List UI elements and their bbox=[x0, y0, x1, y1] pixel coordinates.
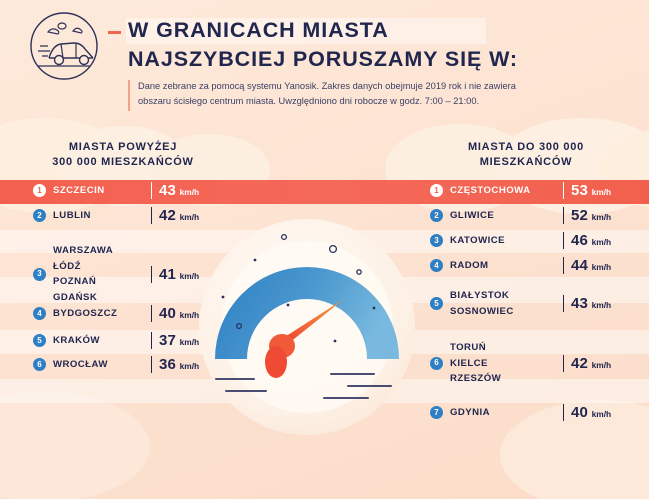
city-name: CZĘSTOCHOWA bbox=[450, 183, 563, 199]
speed-unit: km/h bbox=[180, 187, 200, 197]
city-names: CZĘSTOCHOWA bbox=[450, 183, 563, 199]
city-name: GDAŃSK bbox=[53, 290, 151, 306]
column-heading-left-line-2: 300 000 MIESZKAŃCÓW bbox=[8, 155, 238, 170]
table-row: 2LUBLIN42km/h bbox=[33, 207, 213, 224]
speed-value: 41km/h bbox=[151, 266, 213, 283]
speed-number: 41 bbox=[159, 266, 176, 283]
subtitle-line-1: Dane zebrane za pomocą systemu Yanosik. … bbox=[138, 79, 568, 94]
speed-number: 43 bbox=[571, 295, 588, 312]
speed-value: 37km/h bbox=[151, 332, 213, 349]
city-name: POZNAŃ bbox=[53, 274, 151, 290]
speed-unit: km/h bbox=[180, 361, 200, 371]
speed-number: 46 bbox=[571, 232, 588, 249]
city-name: TORUŃ bbox=[450, 340, 563, 356]
city-name: SOSNOWIEC bbox=[450, 304, 563, 320]
city-name: BYDGOSZCZ bbox=[53, 306, 151, 322]
speed-value: 36km/h bbox=[151, 356, 213, 373]
speed-unit: km/h bbox=[592, 360, 612, 370]
speed-unit: km/h bbox=[180, 212, 200, 222]
column-heading-right-line-2: MIESZKAŃCÓW bbox=[411, 155, 641, 170]
city-names: KATOWICE bbox=[450, 233, 563, 249]
speed-unit: km/h bbox=[592, 300, 612, 310]
speed-value: 52km/h bbox=[563, 207, 625, 224]
table-row: 7GDYNIA40km/h bbox=[430, 404, 625, 421]
column-heading-left-line-1: MIASTA POWYŻEJ bbox=[8, 140, 238, 155]
city-name: RADOM bbox=[450, 258, 563, 274]
rank-badge: 7 bbox=[430, 406, 443, 419]
city-names: KRAKÓW bbox=[53, 333, 151, 349]
city-names: SZCZECIN bbox=[53, 183, 151, 199]
table-row: 5BIAŁYSTOKSOSNOWIEC43km/h bbox=[430, 288, 625, 319]
city-name: GDYNIA bbox=[450, 405, 563, 421]
page-title: W GRANICACH MIASTA NAJSZYBCIEJ PORUSZAMY… bbox=[128, 16, 628, 74]
city-names: WARSZAWAŁÓDŹPOZNAŃGDAŃSK bbox=[53, 243, 151, 305]
rank-badge: 5 bbox=[430, 297, 443, 310]
rank-badge: 4 bbox=[33, 307, 46, 320]
city-name: LUBLIN bbox=[53, 208, 151, 224]
city-name: KIELCE bbox=[450, 356, 563, 372]
rank-badge: 2 bbox=[430, 209, 443, 222]
city-names: LUBLIN bbox=[53, 208, 151, 224]
rank-badge: 6 bbox=[33, 358, 46, 371]
speed-value: 53km/h bbox=[563, 182, 625, 199]
table-row: 3KATOWICE46km/h bbox=[430, 232, 625, 249]
city-names: GDYNIA bbox=[450, 405, 563, 421]
speed-number: 40 bbox=[159, 305, 176, 322]
table-row: 1CZĘSTOCHOWA53km/h bbox=[430, 182, 625, 199]
city-name: WROCŁAW bbox=[53, 357, 151, 373]
rank-badge: 3 bbox=[430, 234, 443, 247]
subtitle: Dane zebrane za pomocą systemu Yanosik. … bbox=[138, 79, 568, 108]
city-name: BIAŁYSTOK bbox=[450, 288, 563, 304]
speed-unit: km/h bbox=[592, 262, 612, 272]
rank-badge: 1 bbox=[430, 184, 443, 197]
city-name: KRAKÓW bbox=[53, 333, 151, 349]
infographic-root: W GRANICACH MIASTA NAJSZYBCIEJ PORUSZAMY… bbox=[0, 0, 649, 499]
city-name: RZESZÓW bbox=[450, 371, 563, 387]
speed-value: 46km/h bbox=[563, 232, 625, 249]
city-names: TORUŃKIELCERZESZÓW bbox=[450, 340, 563, 387]
city-names: RADOM bbox=[450, 258, 563, 274]
speed-value: 43km/h bbox=[563, 295, 625, 312]
column-heading-left: MIASTA POWYŻEJ 300 000 MIESZKAŃCÓW bbox=[8, 140, 238, 170]
speed-unit: km/h bbox=[180, 337, 200, 347]
speed-unit: km/h bbox=[180, 271, 200, 281]
city-names: BYDGOSZCZ bbox=[53, 306, 151, 322]
speed-value: 42km/h bbox=[563, 355, 625, 372]
speed-number: 37 bbox=[159, 332, 176, 349]
table-row: 6TORUŃKIELCERZESZÓW42km/h bbox=[430, 340, 625, 387]
speed-value: 42km/h bbox=[151, 207, 213, 224]
speed-unit: km/h bbox=[592, 237, 612, 247]
subtitle-line-2: obszaru ścisłego centrum miasta. Uwzględ… bbox=[138, 94, 568, 109]
table-row: 6WROCŁAW36km/h bbox=[33, 356, 213, 373]
city-name: WARSZAWA bbox=[53, 243, 151, 259]
city-names: WROCŁAW bbox=[53, 357, 151, 373]
speed-unit: km/h bbox=[592, 187, 612, 197]
speed-number: 53 bbox=[571, 182, 588, 199]
header: W GRANICACH MIASTA NAJSZYBCIEJ PORUSZAMY… bbox=[0, 0, 649, 120]
table-row: 4BYDGOSZCZ40km/h bbox=[33, 305, 213, 322]
footer: yanosik.pl oponeo bbox=[0, 444, 649, 499]
speed-number: 52 bbox=[571, 207, 588, 224]
table-row: 5KRAKÓW37km/h bbox=[33, 332, 213, 349]
city-name: KATOWICE bbox=[450, 233, 563, 249]
speed-number: 44 bbox=[571, 257, 588, 274]
subtitle-accent-bar bbox=[128, 80, 130, 111]
rank-badge: 1 bbox=[33, 184, 46, 197]
speed-value: 44km/h bbox=[563, 257, 625, 274]
table-row: 2GLIWICE52km/h bbox=[430, 207, 625, 224]
speed-value: 40km/h bbox=[151, 305, 213, 322]
column-heading-right: MIASTA DO 300 000 MIESZKAŃCÓW bbox=[411, 140, 641, 170]
rank-badge: 2 bbox=[33, 209, 46, 222]
speed-number: 40 bbox=[571, 404, 588, 421]
speed-value: 40km/h bbox=[563, 404, 625, 421]
city-name: SZCZECIN bbox=[53, 183, 151, 199]
table-row: 1SZCZECIN43km/h bbox=[33, 182, 213, 199]
title-line-2: NAJSZYBCIEJ PORUSZAMY SIĘ W: bbox=[128, 45, 628, 74]
speed-unit: km/h bbox=[180, 310, 200, 320]
column-heading-right-line-1: MIASTA DO 300 000 bbox=[411, 140, 641, 155]
title-line-1: W GRANICACH MIASTA bbox=[128, 16, 628, 45]
table-row: 4RADOM44km/h bbox=[430, 257, 625, 274]
speed-number: 43 bbox=[159, 182, 176, 199]
table-row: 3WARSZAWAŁÓDŹPOZNAŃGDAŃSK41km/h bbox=[33, 243, 213, 305]
title-dash bbox=[108, 31, 121, 34]
car-speed-circle-icon bbox=[28, 10, 100, 82]
speed-number: 36 bbox=[159, 356, 176, 373]
speed-number: 42 bbox=[159, 207, 176, 224]
speed-value: 43km/h bbox=[151, 182, 213, 199]
speed-unit: km/h bbox=[592, 212, 612, 222]
rank-badge: 3 bbox=[33, 268, 46, 281]
rank-badge: 5 bbox=[33, 334, 46, 347]
speed-unit: km/h bbox=[592, 409, 612, 419]
city-name: ŁÓDŹ bbox=[53, 259, 151, 275]
rank-badge: 4 bbox=[430, 259, 443, 272]
city-name: GLIWICE bbox=[450, 208, 563, 224]
speed-number: 42 bbox=[571, 355, 588, 372]
city-names: GLIWICE bbox=[450, 208, 563, 224]
city-names: BIAŁYSTOKSOSNOWIEC bbox=[450, 288, 563, 319]
rank-badge: 6 bbox=[430, 357, 443, 370]
speedometer-illustration bbox=[196, 216, 418, 438]
